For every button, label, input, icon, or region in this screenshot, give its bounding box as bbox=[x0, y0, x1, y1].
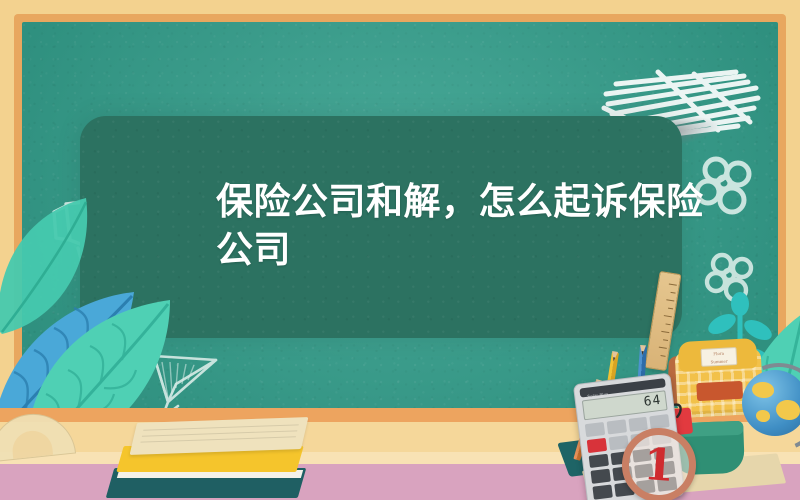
magnifying-glass: 1 bbox=[620, 426, 699, 500]
backpack-tag-line-2: Summer bbox=[702, 356, 736, 366]
backpack-tag: Flora Summer bbox=[700, 347, 737, 367]
magnified-number: 1 bbox=[620, 426, 699, 500]
calculator-key[interactable] bbox=[585, 422, 605, 437]
poster-canvas: 保险公司和解，怎么起诉保险公司 bbox=[0, 0, 800, 500]
leaf-icon-left-upper bbox=[0, 196, 110, 336]
desk-globe bbox=[742, 370, 800, 436]
book-cream bbox=[130, 417, 309, 455]
calculator-key-clear[interactable] bbox=[587, 438, 607, 453]
calculator-key[interactable] bbox=[589, 453, 609, 468]
calculator-key[interactable] bbox=[592, 485, 612, 500]
calculator-display-value: 64 bbox=[643, 393, 662, 411]
page-title: 保险公司和解，怎么起诉保险公司 bbox=[216, 178, 728, 274]
calculator-key[interactable] bbox=[591, 469, 611, 484]
